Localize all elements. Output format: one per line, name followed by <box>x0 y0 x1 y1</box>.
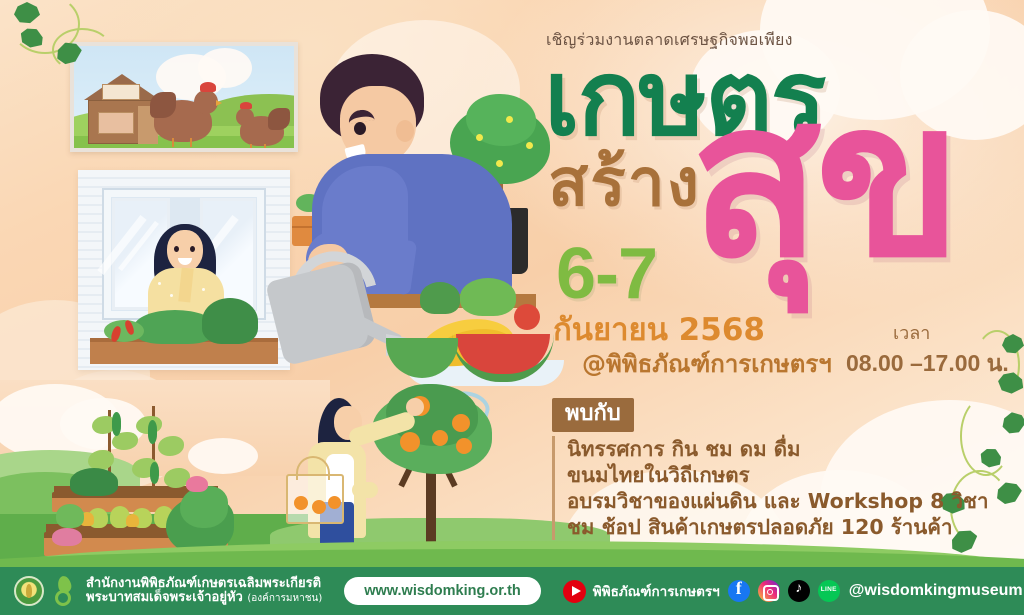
website-pill[interactable]: www.wisdomking.or.th <box>344 577 541 605</box>
social-handle[interactable]: @wisdomkingmuseum <box>849 582 1023 600</box>
time-value: 08.00 –17.00 น. <box>846 352 1009 375</box>
page-title-highlight: สุข <box>690 72 956 287</box>
cloud-shape <box>188 438 258 474</box>
orange-fruit <box>400 432 420 452</box>
org-line-2: พระบาทสมเด็จพระเจ้าอยู่หัว (องค์การมหาชน… <box>86 591 322 606</box>
detail-line: ชม ช้อป สินค้าเกษตรปลอดภัย 120 ร้านค้า <box>567 514 988 540</box>
woman-face <box>167 230 203 272</box>
time-label: เวลา <box>893 325 930 343</box>
footer-bar: สำนักงานพิพิธภัณฑ์เกษตรเฉลิมพระเกียรติ พ… <box>0 567 1024 615</box>
poster-canvas: เชิญร่วมงานตลาดเศรษฐกิจพอเพียง เกษตร สร้… <box>0 0 1024 615</box>
detail-list: นิทรรศการ กิน ชม ดม ดื่ม ขนมไทยในวิถีเกษ… <box>552 436 988 540</box>
garden-bush <box>70 468 118 496</box>
vine-stem <box>52 28 112 72</box>
month-year: กันยายน 2568 <box>553 315 765 346</box>
hen-leg <box>172 138 174 147</box>
tree-fruit <box>506 116 513 123</box>
hen-small <box>234 102 296 150</box>
meet-badge: พบกับ <box>552 398 634 432</box>
detail-line: นิทรรศการ กิน ชม ดม ดื่ม <box>567 436 988 462</box>
orange-fruit <box>432 430 448 446</box>
detail-line: อบรมวิชาของแผ่นดิน และ Workshop 8 วิชา <box>567 488 988 514</box>
org-line-2-main: พระบาทสมเด็จพระเจ้าอยู่หัว <box>86 590 243 605</box>
fabric-dot <box>202 288 205 291</box>
ring-shape <box>55 590 71 606</box>
hen-tail <box>150 92 176 118</box>
flowering-plant <box>186 476 208 492</box>
woman-eye <box>174 246 179 252</box>
tiktok-icon[interactable] <box>788 580 810 602</box>
line-icon[interactable] <box>818 580 840 602</box>
hen-beak <box>216 100 222 106</box>
coop-nesting-box <box>98 112 134 134</box>
tomato <box>514 304 540 330</box>
tree-fruit <box>476 134 483 141</box>
orange-fruit <box>452 414 470 432</box>
leaf-drop-logo-icon <box>51 576 77 606</box>
gardener-ear <box>396 120 414 142</box>
hen-tail <box>268 108 290 130</box>
org-line-1: สำนักงานพิพิธภัณฑ์เกษตรเฉลิมพระเกียรติ <box>86 577 322 591</box>
picker-hand <box>406 398 424 416</box>
cabbage-plant <box>180 486 228 528</box>
planter-bush <box>202 298 258 344</box>
org-line-2-suffix: (องค์การมหาชน) <box>247 593 322 604</box>
picker-arm-lower <box>352 482 378 498</box>
youtube-label[interactable]: พิพิธภัณฑ์การเกษตรฯ <box>593 580 720 602</box>
orange-fruit <box>456 438 472 454</box>
fabric-dot <box>158 282 161 285</box>
can-body <box>265 260 379 367</box>
cabbage <box>460 278 516 316</box>
broccoli <box>420 282 460 314</box>
woman-at-window-illustration <box>78 170 290 370</box>
orange-fruit <box>328 496 341 509</box>
carrot <box>126 514 139 527</box>
fruit-and-vegetable-plate-illustration <box>404 276 564 386</box>
hen-comb <box>240 102 252 109</box>
hen-head <box>236 108 254 126</box>
leafy-green <box>56 504 84 528</box>
royal-seal-icon <box>14 576 44 606</box>
woman-eye <box>190 246 195 252</box>
hen-comb <box>200 82 216 92</box>
fabric-dot <box>170 294 173 297</box>
gardener-eye <box>354 122 366 135</box>
orange-fruit <box>294 496 308 510</box>
youtube-icon[interactable] <box>563 580 586 603</box>
coop-window <box>102 84 140 100</box>
instagram-icon[interactable] <box>758 580 780 602</box>
facebook-icon[interactable] <box>728 580 750 602</box>
organization-name: สำนักงานพิพิธภัณฑ์เกษตรเฉลิมพระเกียรติ พ… <box>86 577 322 605</box>
bean-pod <box>148 420 157 444</box>
hen-leg <box>250 144 252 151</box>
hen-large <box>150 82 236 146</box>
bean-pod <box>150 462 159 484</box>
venue-text: @พิพิธภัณฑ์การเกษตรฯ <box>582 352 832 376</box>
hen-leg <box>190 138 192 147</box>
bean-pod <box>112 412 121 436</box>
hen-leg <box>264 144 266 151</box>
detail-line: ขนมไทยในวิถีเกษตร <box>567 462 988 488</box>
hen-head <box>194 90 218 114</box>
tree-fruit <box>526 142 533 149</box>
date-range: 6-7 <box>556 238 657 310</box>
tree-fruit <box>496 160 503 167</box>
page-title-line2: สร้าง <box>548 150 701 216</box>
orange-fruit <box>312 500 326 514</box>
